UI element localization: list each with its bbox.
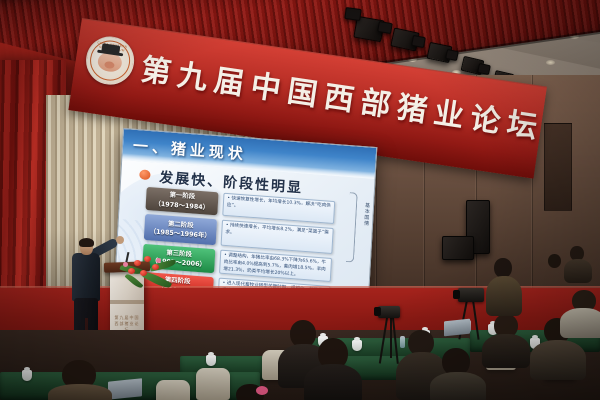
presenter-torso: [72, 253, 100, 301]
audience-shoulders: [304, 364, 362, 400]
pink-flower: [123, 262, 128, 267]
audience-shoulders: [560, 308, 600, 338]
audience-shoulders: [430, 372, 486, 400]
audience-shoulders: [482, 334, 530, 368]
teacup-icon: [22, 370, 32, 381]
chair-back: [196, 368, 230, 400]
top-hat-icon: [101, 43, 120, 55]
stage-light-icon: [477, 63, 491, 75]
video-camera-icon: [378, 306, 400, 318]
podium-label: 第九届中国西部猪业论坛: [113, 315, 141, 323]
audience-shoulders: [564, 259, 592, 283]
videographer-head: [494, 258, 512, 278]
laptop-icon: [444, 319, 470, 337]
audience-shoulders: [530, 340, 586, 380]
audience-shoulders: [48, 384, 112, 400]
podium-band: [110, 300, 144, 304]
stage-chip-2: 第二阶段 （1985～1996年）: [144, 214, 217, 245]
red-flower: [140, 270, 147, 276]
presenter-hand: [116, 236, 124, 244]
stage-light-icon: [445, 49, 459, 61]
camera-lens-icon: [453, 290, 460, 299]
stage-light-icon: [411, 35, 426, 48]
stage-years: （1978～1984）: [154, 199, 209, 212]
teacup-icon: [206, 355, 216, 366]
video-camera-icon: [458, 288, 484, 302]
water-bottle-icon: [400, 336, 405, 348]
stage-years: （1985～1996年）: [149, 227, 210, 241]
red-flower: [152, 264, 159, 270]
stage-light-icon: [377, 21, 393, 34]
red-flower: [134, 260, 141, 266]
camera-lens-icon: [374, 307, 381, 316]
slide-brace: [346, 192, 358, 262]
wall-door: [544, 123, 572, 211]
flower-arrangement: [120, 252, 176, 294]
pink-flower: [156, 258, 161, 263]
audience-head: [548, 254, 561, 268]
slide-side-note: 基本国情: [360, 202, 370, 227]
stage-light-icon: [344, 7, 362, 21]
videographer-body: [486, 276, 522, 316]
red-flower: [144, 256, 151, 262]
teacup-icon: [352, 340, 362, 351]
presenter-hair: [79, 238, 94, 247]
tripod-leg: [390, 318, 392, 358]
floor-monitor-icon: [442, 236, 474, 260]
conference-photo-scene: CHINA WESTERN SWINE FORUM 第九届中国西部猪业论坛 一、…: [0, 0, 600, 400]
downlight-icon: [546, 60, 555, 65]
laptop-icon: [108, 378, 142, 400]
chair-back: [156, 380, 190, 400]
hair-bow-icon: [256, 386, 268, 395]
red-flower: [128, 268, 135, 274]
